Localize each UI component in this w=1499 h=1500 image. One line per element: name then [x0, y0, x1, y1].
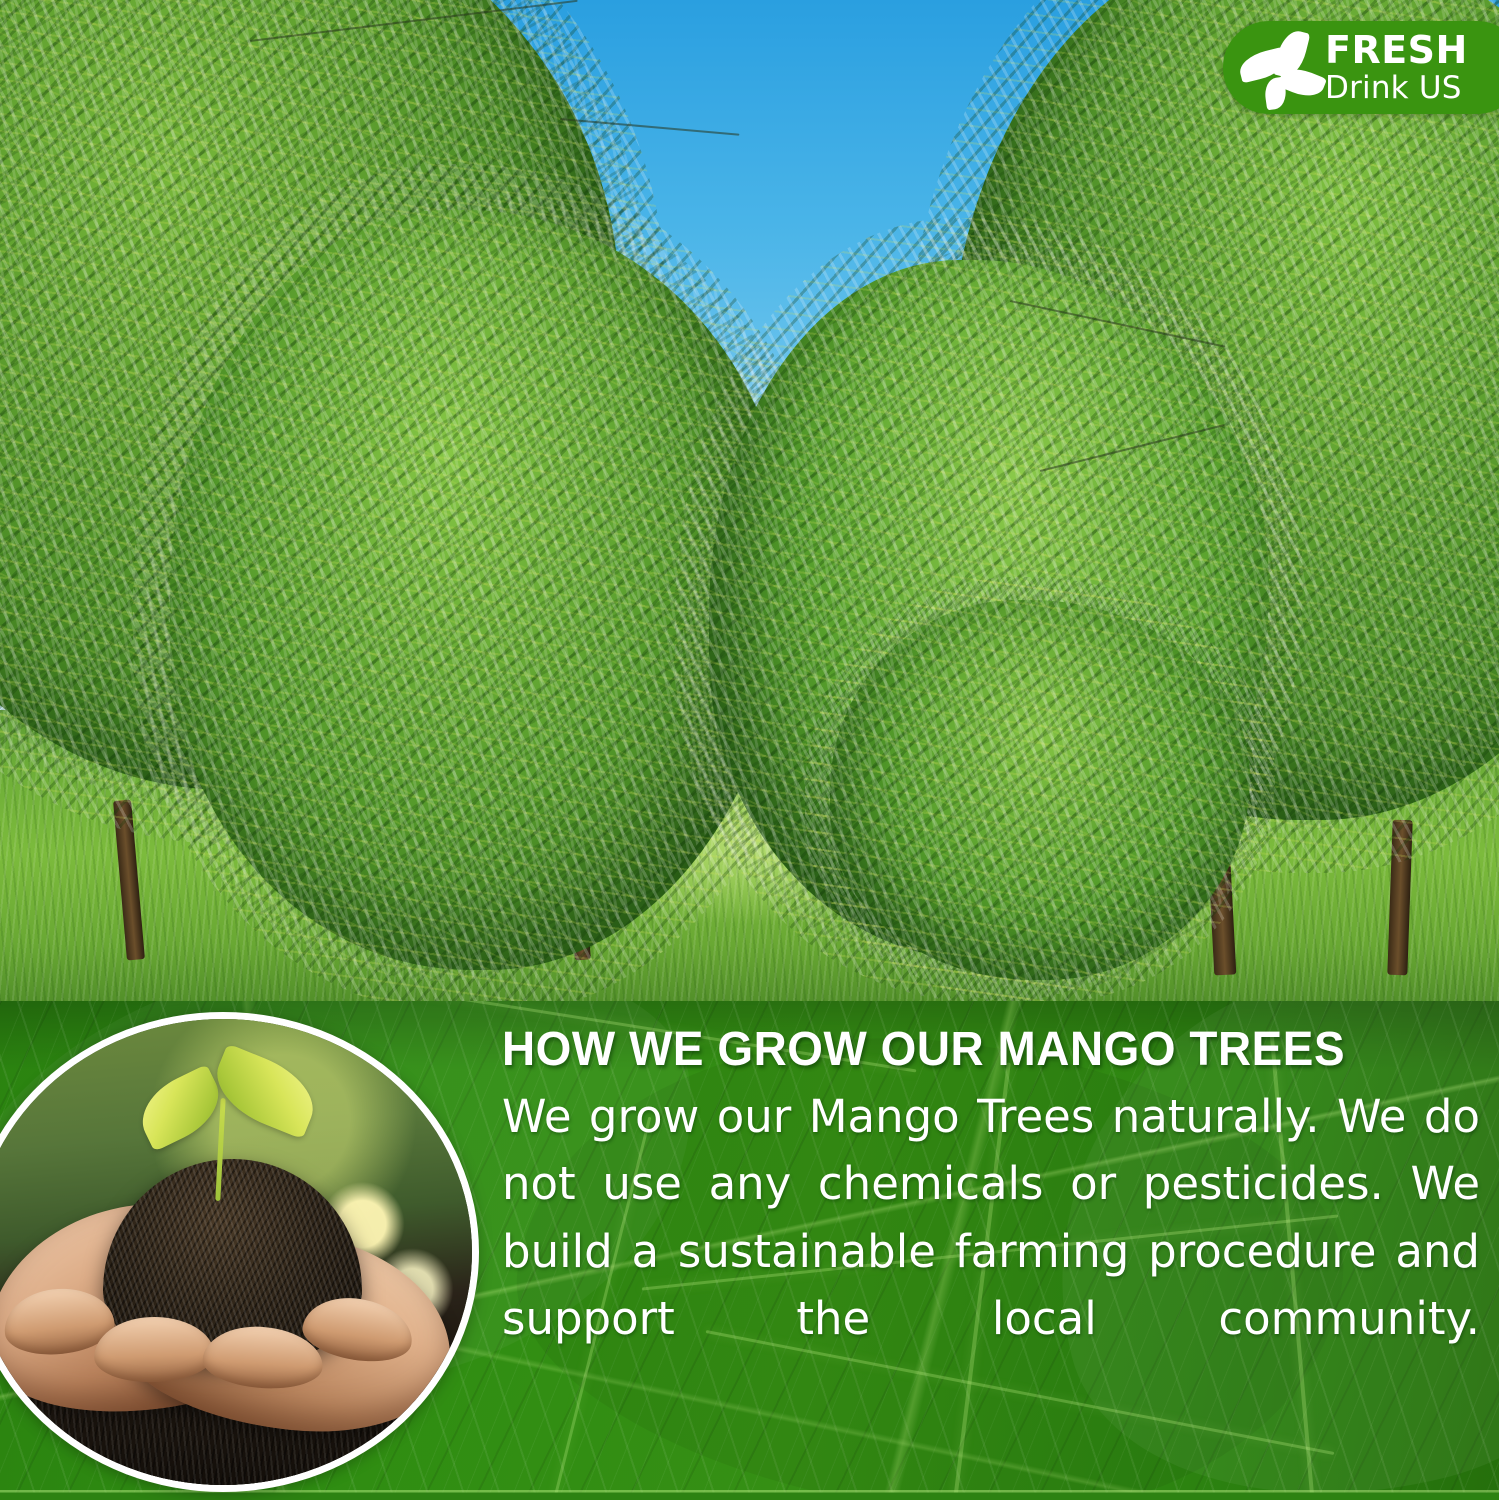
- hands-holding-seedling-photo: [0, 1012, 479, 1492]
- brand-name-secondary: Drink US: [1325, 73, 1468, 104]
- page-title: HOW WE GROW OUR MANGO TREES: [502, 1026, 1438, 1075]
- brand-logo-text: FRESH Drink US: [1325, 31, 1468, 104]
- mango-tree-canopy: [830, 600, 1250, 980]
- brand-logo[interactable]: FRESH Drink US: [1223, 21, 1499, 114]
- banner-copy: HOW WE GROW OUR MANGO TREES We grow our …: [502, 1026, 1482, 1420]
- circular-photo-frame: [0, 1012, 479, 1492]
- banner-body-text: We grow our Mango Trees naturally. We do…: [502, 1083, 1480, 1421]
- product-infographic-poster: HOW WE GROW OUR MANGO TREES We grow our …: [0, 0, 1499, 1500]
- banner-body-span: We grow our Mango Trees naturally. We do…: [502, 1090, 1480, 1346]
- leaf-petal-bottom: [1263, 76, 1288, 110]
- four-leaf-sprout-icon: [1235, 28, 1321, 108]
- mango-orchard-photo: [0, 0, 1499, 1010]
- brand-name-primary: FRESH: [1325, 31, 1468, 69]
